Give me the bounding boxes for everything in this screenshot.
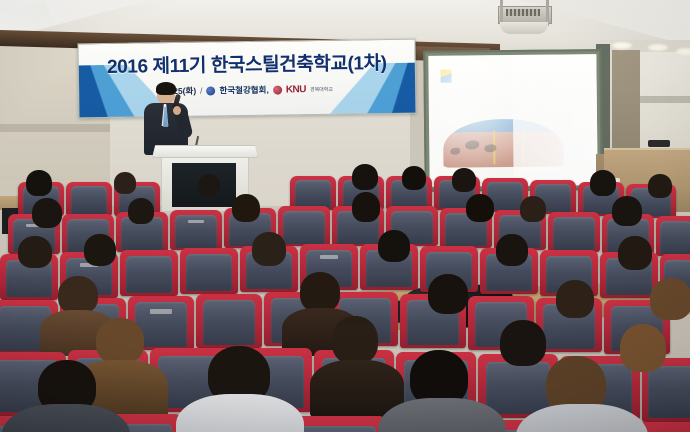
attendee-head bbox=[332, 316, 378, 364]
projector-grill-icon bbox=[506, 9, 540, 16]
projector-lens bbox=[500, 22, 548, 34]
attendee-head bbox=[620, 324, 666, 372]
audience-seating bbox=[0, 160, 690, 432]
ceiling-spotlight bbox=[676, 48, 690, 55]
wall-right-strip bbox=[640, 96, 690, 103]
auditorium-seat bbox=[290, 176, 336, 210]
attendee-head bbox=[26, 170, 52, 196]
attendee-head bbox=[500, 320, 546, 366]
attendee-head bbox=[352, 164, 378, 190]
attendee-head bbox=[402, 166, 426, 190]
ceiling-spotlight bbox=[648, 44, 668, 51]
lecture-hall-photo: 2016 제11기 한국스틸건축학교(1차) 10.25(화) / 한국철강협회… bbox=[0, 0, 690, 432]
attendee-head bbox=[612, 196, 642, 226]
attendee-head bbox=[96, 318, 144, 364]
auditorium-seat bbox=[170, 210, 222, 250]
attendee-head bbox=[618, 236, 652, 270]
auditorium-seat bbox=[180, 248, 238, 294]
attendee-head bbox=[114, 172, 136, 194]
auditorium-seat bbox=[120, 250, 178, 296]
banner-university-name: 경북대학교 bbox=[310, 85, 333, 92]
attendee-head bbox=[556, 280, 594, 318]
attendee-head bbox=[378, 230, 410, 262]
attendee-head bbox=[428, 274, 468, 314]
counter-equipment bbox=[648, 140, 670, 147]
attendee-head bbox=[232, 194, 260, 222]
knu-logo-icon bbox=[273, 85, 282, 94]
screen-hotspot bbox=[428, 54, 547, 174]
banner-title: 2016 제11기 한국스틸건축학교(1차) bbox=[79, 48, 415, 80]
attendee-head bbox=[520, 196, 546, 222]
event-banner: 2016 제11기 한국스틸건축학교(1차) 10.25(화) / 한국철강협회… bbox=[77, 39, 416, 119]
steel-association-logo-icon bbox=[206, 86, 215, 95]
attendee-head bbox=[590, 170, 616, 196]
auditorium-seat bbox=[66, 182, 112, 216]
speaker-hand bbox=[173, 106, 181, 115]
banner-separator: / bbox=[200, 86, 203, 96]
attendee-head bbox=[18, 236, 52, 268]
auditorium-seat bbox=[656, 216, 690, 256]
attendee-head bbox=[128, 198, 154, 224]
banner-university-mark: KNU bbox=[286, 84, 306, 95]
ceiling-spotlight bbox=[612, 42, 632, 49]
attendee-head bbox=[300, 272, 340, 312]
attendee-head bbox=[84, 234, 116, 266]
speaker-hair bbox=[156, 82, 176, 95]
speaker-person bbox=[140, 84, 192, 154]
attendee-head bbox=[58, 276, 98, 314]
attendee-head bbox=[32, 198, 62, 228]
attendee-head bbox=[496, 234, 528, 266]
banner-organizer: 한국철강협회, bbox=[219, 84, 268, 97]
attendee-head bbox=[252, 232, 286, 266]
auditorium-seat bbox=[548, 212, 600, 252]
attendee-head bbox=[648, 174, 672, 198]
attendee-head bbox=[466, 194, 494, 222]
attendee-head bbox=[650, 278, 690, 320]
attendee-head bbox=[198, 174, 220, 196]
auditorium-seat bbox=[278, 206, 330, 246]
attendee-head bbox=[352, 192, 380, 222]
podium-top bbox=[152, 145, 258, 158]
attendee-head bbox=[452, 168, 476, 192]
auditorium-seat bbox=[196, 294, 262, 348]
